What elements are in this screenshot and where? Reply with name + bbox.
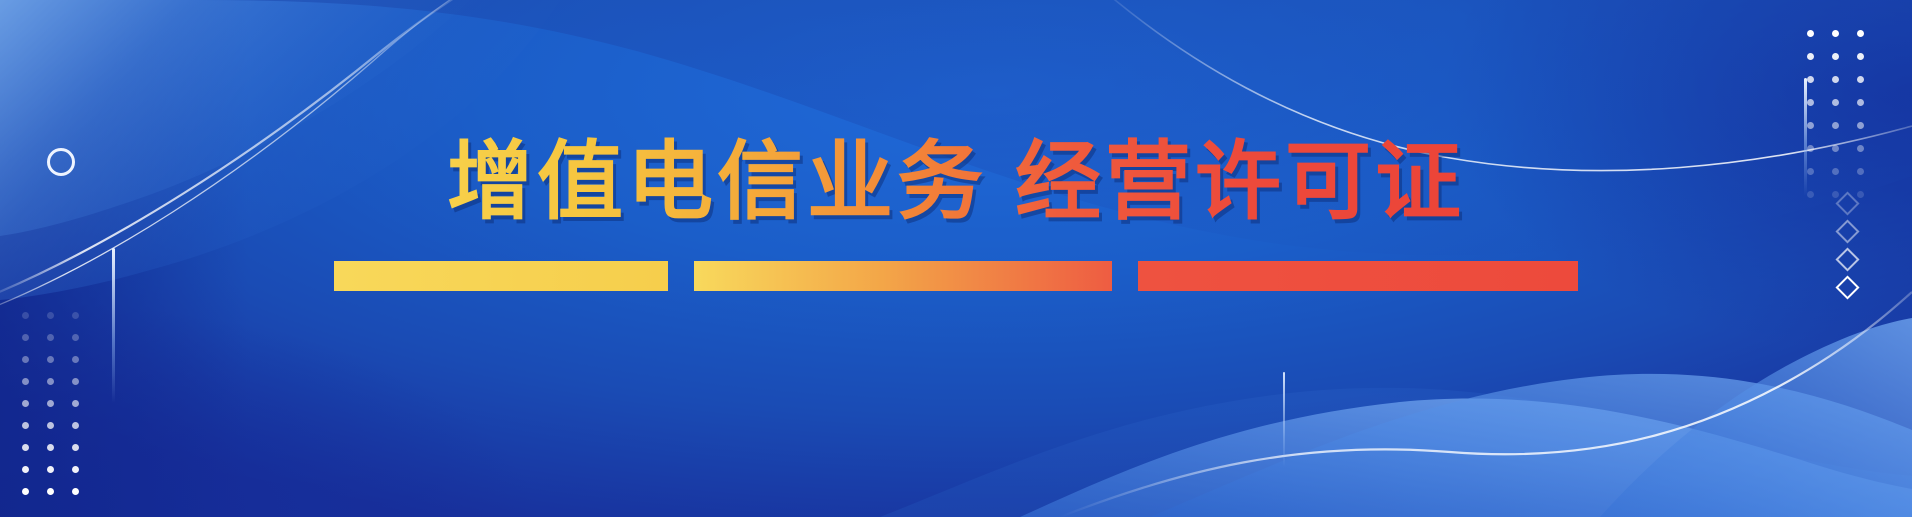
subtitle-segment-3: 为客户提供申请过程中的实地勘验和优化方案 <box>1138 261 1578 291</box>
banner-subtitle: 专属顾问团队24小时在线贴心服务 可以为客户提供量身定制的业务系统或网站 为客户… <box>334 261 1577 291</box>
banner-headline: 增值电信业务 经营许可证 <box>447 136 1465 229</box>
subtitle-segment-2: 可以为客户提供量身定制的业务系统或网站 <box>694 261 1112 291</box>
subtitle-segment-1: 专属顾问团队24小时在线贴心服务 <box>334 261 667 291</box>
promo-banner: 增值电信业务 经营许可证 专属顾问团队24小时在线贴心服务 可以为客户提供量身定… <box>0 0 1912 517</box>
banner-content: 增值电信业务 经营许可证 专属顾问团队24小时在线贴心服务 可以为客户提供量身定… <box>0 0 1912 517</box>
